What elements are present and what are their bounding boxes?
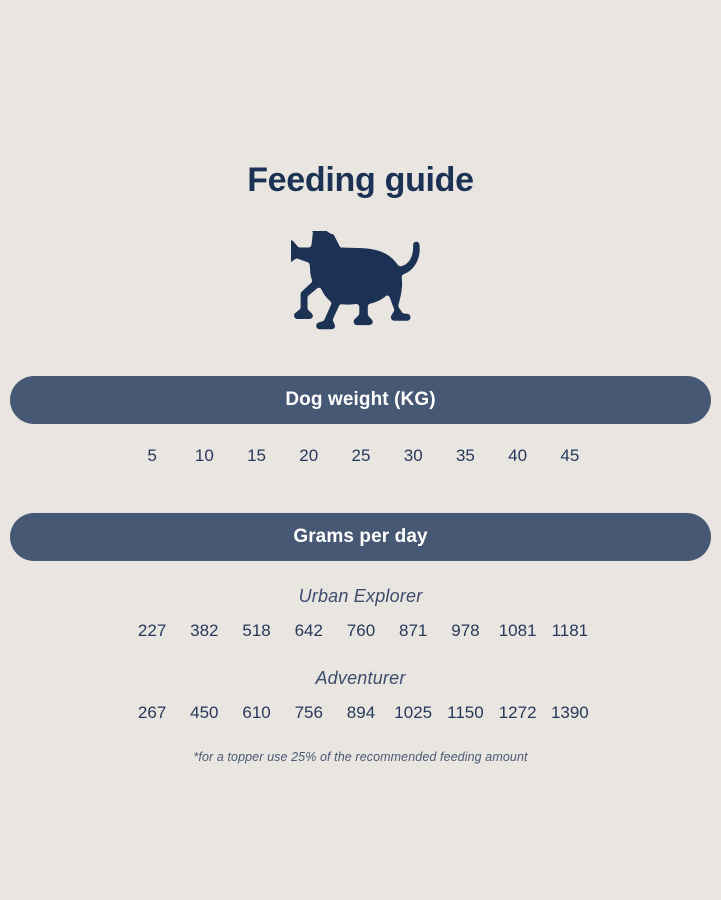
- adventurer-cell: 610: [230, 703, 282, 723]
- urban-explorer-cell: 518: [230, 621, 282, 641]
- adventurer-cell: 1272: [492, 703, 544, 723]
- dog-weight-cell: 40: [492, 446, 544, 466]
- adventurer-cell: 1390: [544, 703, 596, 723]
- dog-illustration: [0, 228, 721, 333]
- adventurer-values-row: 267 450 610 756 894 1025 1150 1272 1390: [126, 703, 596, 723]
- dog-weight-cell: 35: [439, 446, 491, 466]
- urban-explorer-cell: 871: [387, 621, 439, 641]
- adventurer-cell: 267: [126, 703, 178, 723]
- urban-explorer-cell: 760: [335, 621, 387, 641]
- section-header-grams-per-day: Grams per day: [10, 513, 711, 561]
- adventurer-cell: 1150: [439, 703, 491, 723]
- section-header-dog-weight: Dog weight (KG): [10, 376, 711, 424]
- page-title: Feeding guide: [0, 162, 721, 199]
- urban-explorer-values-row: 227 382 518 642 760 871 978 1081 1181: [126, 621, 596, 641]
- adventurer-cell: 756: [283, 703, 335, 723]
- section-header-grams-per-day-label: Grams per day: [293, 526, 427, 548]
- dog-weight-cell: 30: [387, 446, 439, 466]
- dog-weight-values-row: 5 10 15 20 25 30 35 40 45: [126, 446, 596, 466]
- dog-weight-cell: 10: [178, 446, 230, 466]
- urban-explorer-cell: 382: [178, 621, 230, 641]
- feeding-guide-page: Feeding guide Dog weight (KG) 5 10 15 20…: [0, 0, 721, 900]
- urban-explorer-cell: 978: [439, 621, 491, 641]
- dog-weight-cell: 5: [126, 446, 178, 466]
- adventurer-cell: 450: [178, 703, 230, 723]
- adventurer-cell: 1025: [387, 703, 439, 723]
- adventurer-cell: 894: [335, 703, 387, 723]
- variant-label-adventurer: Adventurer: [0, 668, 721, 689]
- section-header-dog-weight-label: Dog weight (KG): [285, 389, 435, 411]
- urban-explorer-cell: 642: [283, 621, 335, 641]
- dog-weight-cell: 25: [335, 446, 387, 466]
- urban-explorer-cell: 227: [126, 621, 178, 641]
- footnote: *for a topper use 25% of the recommended…: [0, 750, 721, 764]
- dog-weight-cell: 45: [544, 446, 596, 466]
- dog-silhouette-icon: [291, 231, 431, 331]
- urban-explorer-cell: 1181: [544, 621, 596, 641]
- variant-label-urban-explorer: Urban Explorer: [0, 586, 721, 607]
- urban-explorer-cell: 1081: [492, 621, 544, 641]
- dog-weight-cell: 15: [230, 446, 282, 466]
- dog-weight-cell: 20: [283, 446, 335, 466]
